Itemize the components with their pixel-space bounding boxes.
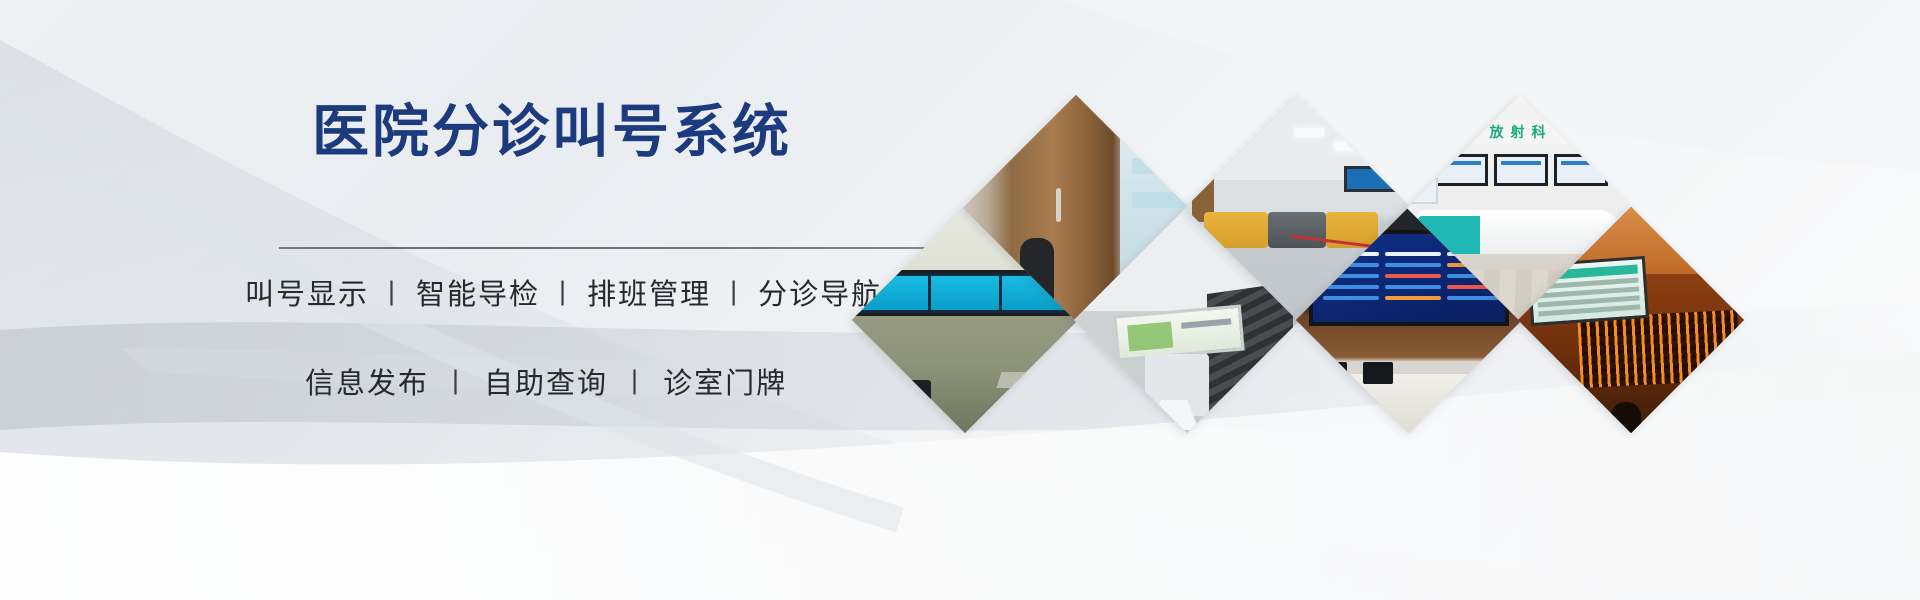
title-divider [279,247,959,249]
feature-item-zhinengdaojian[interactable]: 智能导检 [414,271,542,313]
radiology-department-sign: 放射科 [1490,122,1553,142]
person-graphic [1611,402,1641,433]
door-sign-graphic [1132,192,1184,208]
hazard-stripe-graphic [1089,400,1123,414]
feature-item-jiaohaoxianshi[interactable]: 叫号显示 [243,271,371,313]
desk-graphic [996,372,1071,388]
led-queue-wall-graphic [1577,310,1740,388]
queue-tv-graphic [1554,154,1608,186]
management-center-sign: 管理中心 [1313,405,1393,426]
feature-separator: | [371,276,414,307]
feature-item-zizhuchaxun[interactable]: 自助查询 [482,360,610,402]
monitor-graphic [1363,362,1393,384]
queue-tv-graphic [1494,154,1548,186]
door-handle-graphic [1056,188,1061,222]
ceiling-light-graphic [1294,128,1324,137]
ceiling-graphic [1185,95,1411,180]
monitor-graphic [1317,362,1347,384]
page-title: 医院分诊叫号系统 [312,101,792,164]
queue-tv-graphic [1434,154,1488,186]
feature-separator: | [610,365,661,396]
ceiling-light-graphic [1334,142,1364,151]
feature-row-2: 信息发布 | 自助查询 | 诊室门牌 [303,360,789,402]
feature-item-xinxifabu[interactable]: 信息发布 [303,360,431,402]
diamond-photo-collage: 管理中心 放射科 [985,128,1920,468]
feature-row-1: 叫号显示 | 智能导检 | 排班管理 | 分诊导航 [243,271,884,313]
ceiling-light-graphic [1238,114,1268,123]
poster-board-graphic [1408,164,1438,204]
radiology-department-sign-panel: 放射科 [1428,120,1614,144]
feature-item-paibanguanli[interactable]: 排班管理 [585,271,713,313]
feature-item-zhenshimenpai[interactable]: 诊室门牌 [661,360,789,402]
wall-screen-graphic [1344,166,1400,192]
banner-text-column: 医院分诊叫号系统 叫号显示 | 智能导检 | 排班管理 | 分诊导航 信息发布 … [0,0,1020,600]
door-sign-graphic [1132,126,1184,142]
sofa-graphic [1268,212,1326,248]
feature-separator: | [713,276,756,307]
feature-separator: | [542,276,585,307]
reception-desk-graphic [1296,374,1522,433]
door-sign-graphic [1132,158,1184,174]
hero-banner: 医院分诊叫号系统 叫号显示 | 智能导检 | 排班管理 | 分诊导航 信息发布 … [0,0,1920,600]
feature-separator: | [431,365,482,396]
